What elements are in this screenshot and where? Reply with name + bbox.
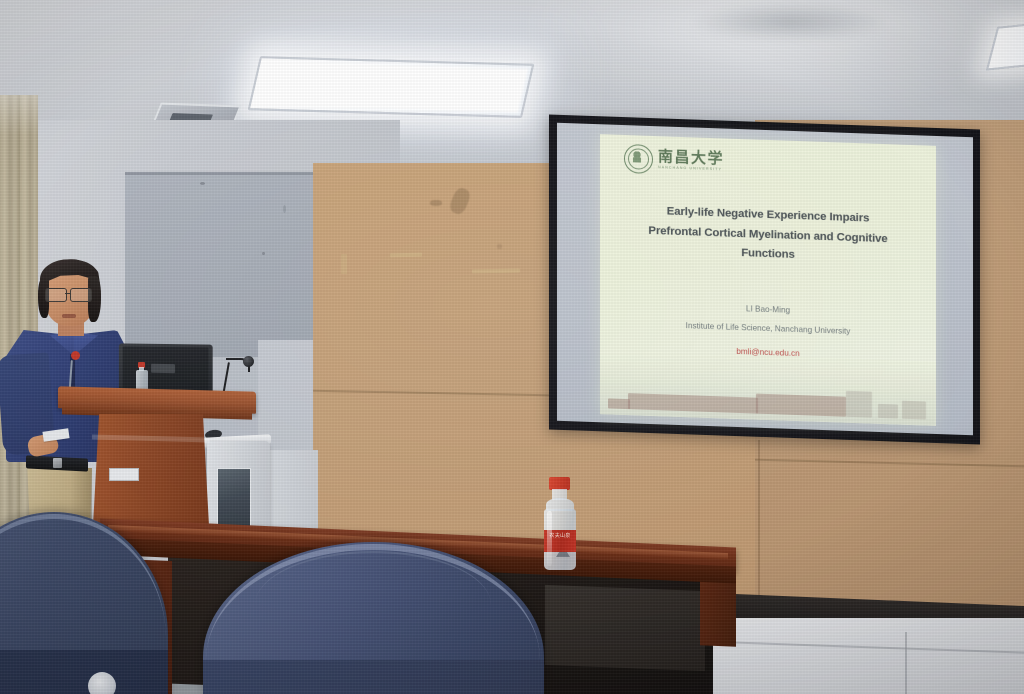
microphone-head-icon[interactable] — [243, 356, 254, 367]
wall-speck — [283, 205, 286, 213]
slide-content: 南昌大学 NANCHANG UNIVERSITY Early-life Nega… — [600, 134, 936, 426]
cabinet-side-panel — [268, 450, 318, 538]
slide-affiliation: Institute of Life Science, Nanchang Univ… — [614, 320, 922, 339]
presenter-mouth — [62, 314, 76, 318]
ceiling-light-main — [248, 56, 535, 118]
slide-footer-photo — [600, 350, 936, 426]
projected-slide: 南昌大学 NANCHANG UNIVERSITY Early-life Nega… — [600, 134, 936, 426]
slide-title: Early-life Negative Experience Impairs P… — [614, 201, 922, 271]
chair-knob — [88, 672, 116, 694]
lapel-microphone-icon — [71, 351, 80, 360]
chair-lower-right — [203, 660, 544, 694]
wall-scuff — [497, 244, 502, 249]
university-seal-tree-icon — [624, 144, 653, 174]
wall-tape-mark — [341, 254, 347, 274]
logo-name-cn: 南昌大学 — [658, 149, 724, 166]
wall-tape-mark — [390, 253, 422, 258]
wall-speck — [200, 182, 205, 185]
belt-buckle — [53, 458, 62, 468]
slide-author: LI Bao-Ming — [614, 301, 922, 320]
curtain-highlight — [0, 95, 38, 135]
desk-inner-panel — [545, 585, 705, 671]
led-diffuser — [254, 61, 528, 112]
chair-lower-left — [0, 650, 168, 694]
logo-text-block: 南昌大学 NANCHANG UNIVERSITY — [658, 149, 724, 172]
floor — [700, 618, 1024, 694]
floor-grout-line — [905, 632, 907, 694]
slide-logo: 南昌大学 NANCHANG UNIVERSITY — [624, 144, 724, 176]
logo-name-en: NANCHANG UNIVERSITY — [658, 166, 724, 172]
eyeglasses-icon — [70, 288, 92, 302]
bottle-on-desk[interactable]: 农夫山泉 — [540, 477, 580, 570]
laptop-logo — [151, 364, 175, 374]
eyeglasses-bridge — [65, 293, 71, 294]
wall-tape-mark — [472, 269, 520, 274]
wall-scuff — [430, 200, 442, 206]
wall-speck — [262, 252, 265, 255]
bottle-highlight — [547, 511, 552, 566]
ceiling-smudge — [690, 2, 890, 42]
eyeglasses-icon — [45, 288, 67, 302]
lecture-hall-scene: 南昌大学 NANCHANG UNIVERSITY Early-life Nega… — [0, 0, 1024, 694]
lectern-name-plate — [109, 468, 139, 481]
